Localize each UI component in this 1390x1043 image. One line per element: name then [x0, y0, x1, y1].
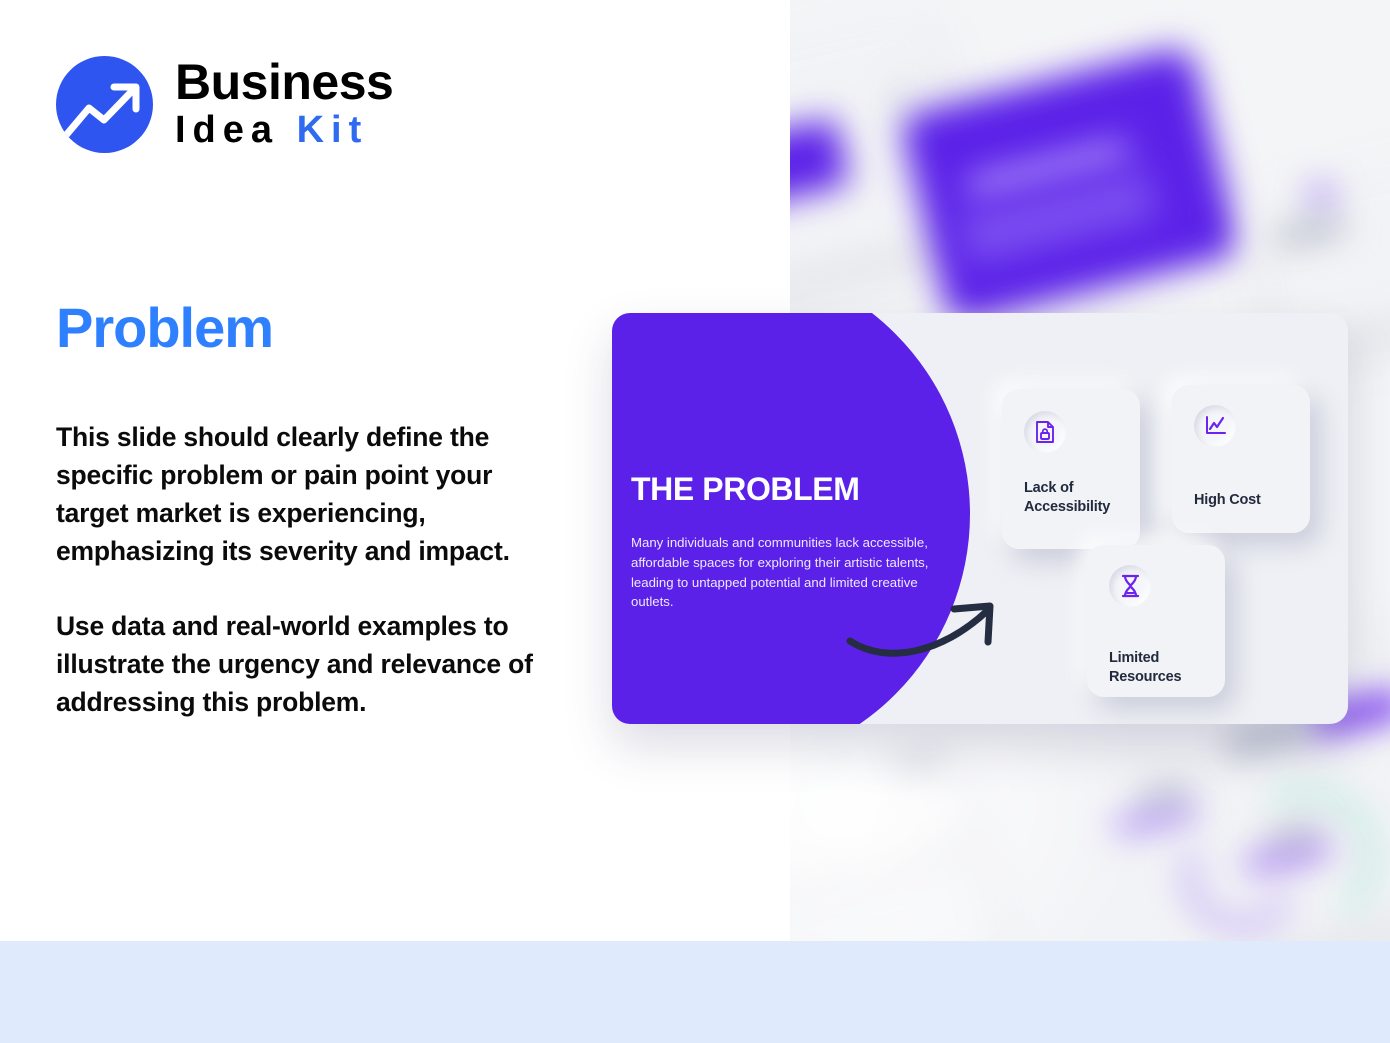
brand-wordmark: Business Idea Kit — [175, 57, 393, 153]
feature-label-limited-resources: Limited Resources — [1109, 649, 1219, 686]
description-paragraph-1: This slide should clearly define the spe… — [56, 418, 566, 571]
brand-name-line1: Business — [175, 57, 393, 107]
curved-arrow-icon — [842, 593, 1012, 663]
feature-card-high-cost[interactable]: High Cost — [1172, 385, 1310, 533]
brand-logo[interactable]: Business Idea Kit — [56, 56, 393, 153]
slide-preview-card[interactable]: THE PROBLEM Many individuals and communi… — [612, 313, 1348, 724]
slide-title: THE PROBLEM — [631, 473, 961, 507]
feature-label-accessibility: Lack of Accessibility — [1024, 479, 1134, 516]
brand-name-line2: Idea Kit — [175, 109, 393, 153]
description-block: This slide should clearly define the spe… — [56, 418, 566, 721]
brand-kit-text: Kit — [297, 109, 369, 151]
document-lock-icon — [1024, 411, 1066, 453]
page-root: Business Idea Kit Problem This slide sho… — [0, 0, 1390, 1043]
line-chart-icon — [1194, 405, 1236, 447]
brand-name-text: Business — [175, 54, 393, 110]
bg-dot-purple — [1310, 185, 1332, 207]
description-paragraph-2: Use data and real-world examples to illu… — [56, 607, 566, 721]
trending-up-arrow-icon — [56, 56, 153, 153]
hourglass-icon — [1109, 565, 1151, 607]
bottom-color-band — [0, 941, 1390, 1043]
brand-idea-text: Idea — [175, 109, 297, 151]
feature-card-accessibility[interactable]: Lack of Accessibility — [1002, 389, 1140, 549]
feature-card-limited-resources[interactable]: Limited Resources — [1087, 545, 1225, 697]
feature-label-high-cost: High Cost — [1194, 491, 1304, 510]
page-title: Problem — [56, 297, 273, 359]
